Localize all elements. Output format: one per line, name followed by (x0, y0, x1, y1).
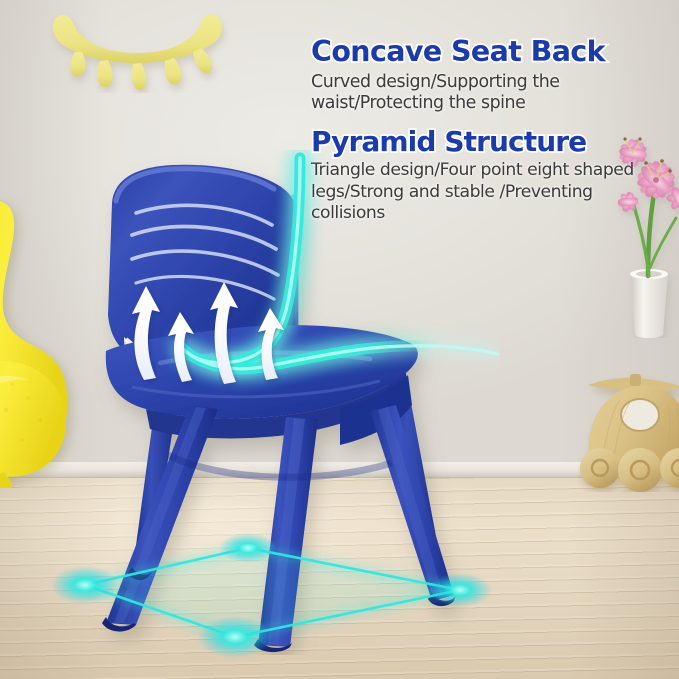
airflow-arrows (120, 230, 340, 400)
yellow-eyelash-wall-decor (45, 8, 230, 93)
headline-pyramid-structure: Pyramid Structure (311, 126, 671, 157)
wooden-toy-car-with-propeller (578, 352, 679, 492)
product-feature-image: Concave Seat Back Curved design/Supporti… (0, 0, 679, 679)
four-point-stability-diamond (30, 500, 530, 675)
headline-concave-seat-back: Concave Seat Back (311, 36, 671, 68)
subcopy-concave-seat-back: Curved design/Supporting the waist/Prote… (311, 72, 671, 115)
copy-block: Concave Seat Back Curved design/Supporti… (311, 36, 671, 224)
subcopy-pyramid-structure: Triangle design/Four point eight shaped … (311, 160, 671, 224)
